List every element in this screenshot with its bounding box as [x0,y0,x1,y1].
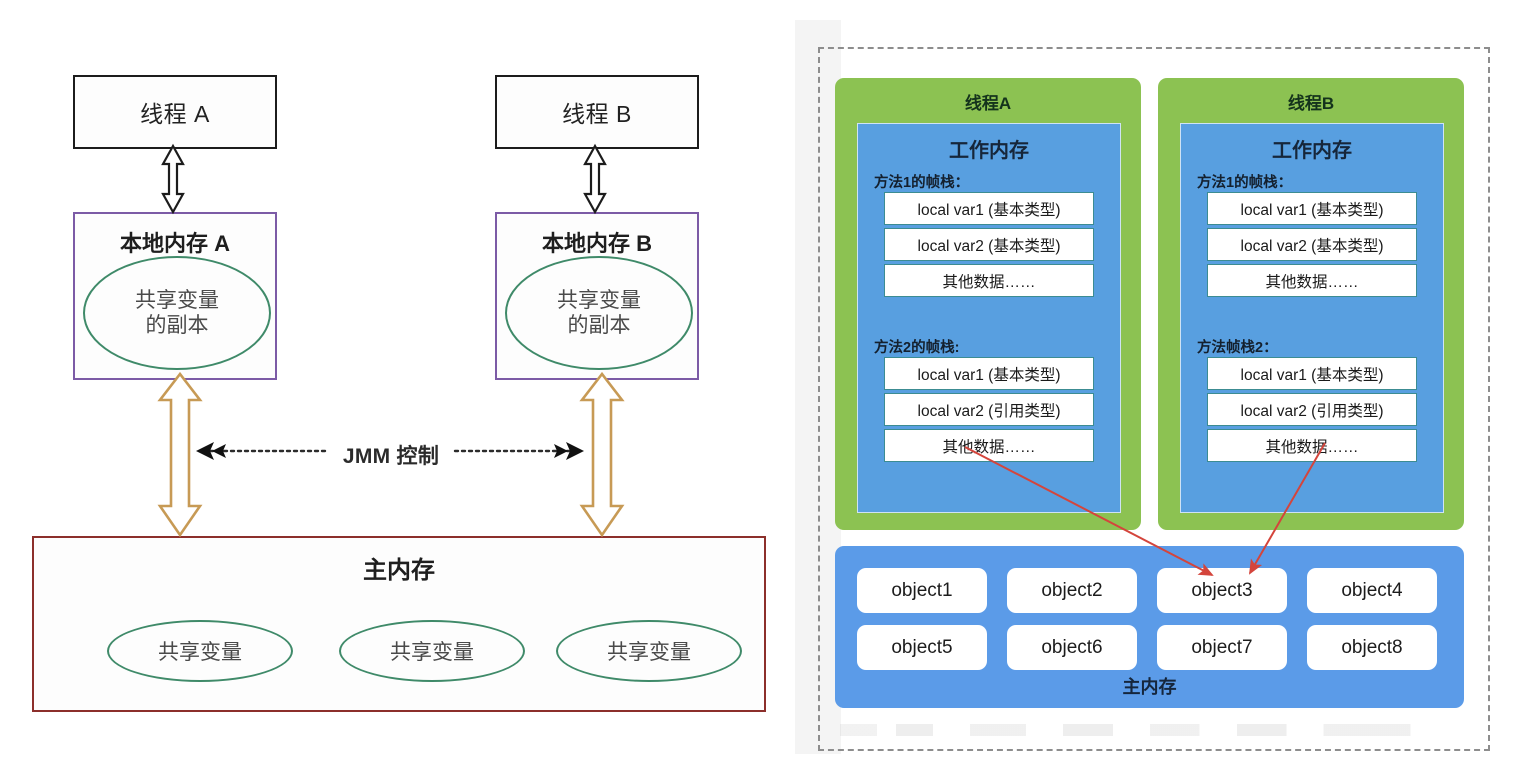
copy-line-1: 共享变量 [135,288,219,313]
local-memory-a-box: 本地内存 A 共享变量 的副本 [73,212,277,380]
local-a-main-memory-arrow [160,374,200,535]
object-item: object1 [857,568,987,613]
local-memory-b-title: 本地内存 B [497,226,697,258]
frame-2-stack: local var1 (基本类型) local var2 (引用类型) 其他数据… [1207,357,1417,465]
local-memory-b-box: 本地内存 B 共享变量 的副本 [495,212,699,380]
local-b-main-memory-arrow [582,374,622,535]
main-memory-box: 主内存 共享变量 共享变量 共享变量 [32,536,766,712]
thread-a-card-title: 线程A [835,89,1141,114]
stack-row: local var2 (引用类型) [884,393,1094,426]
stack-row: local var1 (基本类型) [1207,357,1417,390]
shared-variable-ellipse: 共享变量 [556,620,742,682]
frame-2-label: 方法帧栈2： [1197,336,1278,357]
stack-row: local var2 (基本类型) [1207,228,1417,261]
thread-a-box: 线程 A [73,75,277,149]
stack-row: 其他数据…… [1207,264,1417,297]
frame-1-stack: local var1 (基本类型) local var2 (基本类型) 其他数据… [884,192,1094,300]
frame-2-stack: local var1 (基本类型) local var2 (引用类型) 其他数据… [884,357,1094,465]
shared-variable-copy-b-ellipse: 共享变量 的副本 [505,256,693,370]
stack-row: local var2 (基本类型) [884,228,1094,261]
frame-1-label: 方法1的帧栈： [1197,171,1292,192]
object-item: object5 [857,625,987,670]
work-memory-title: 工作内存 [1181,134,1443,163]
thread-b-card: 线程B 工作内存 方法1的帧栈： local var1 (基本类型) local… [1158,78,1464,530]
thread-b-sync-arrow [585,146,605,212]
object-item: object4 [1307,568,1437,613]
thread-a-card: 线程A 工作内存 方法1的帧栈： local var1 (基本类型) local… [835,78,1141,530]
jmm-control-label: JMM 控制 [331,440,451,470]
shared-variable-copy-a-ellipse: 共享变量 的副本 [83,256,271,370]
jvm-memory-diagram: 线程A 工作内存 方法1的帧栈： local var1 (基本类型) local… [780,0,1534,774]
work-memory-title: 工作内存 [858,134,1120,163]
local-memory-a-title: 本地内存 A [75,226,275,258]
shared-variable-label: 共享变量 [607,636,691,666]
jmm-control-right-arrow [455,442,584,460]
heap-main-memory-card: object1 object2 object3 object4 object5 … [835,546,1464,708]
shared-variable-label: 共享变量 [390,636,474,666]
shared-variable-label: 共享变量 [158,636,242,666]
stack-row: 其他数据…… [1207,429,1417,462]
diagram-root: 线程 A 线程 B 本地内存 A 共享变量 的副本 本地内存 B 共享变量 的副… [0,0,1534,774]
thread-a-sync-arrow [163,146,183,212]
stack-row: 其他数据…… [884,429,1094,462]
thread-b-card-title: 线程B [1158,89,1464,114]
thread-a-work-memory: 工作内存 方法1的帧栈： local var1 (基本类型) local var… [857,123,1121,513]
thread-b-label: 线程 B [562,95,632,129]
cutoff-caption-text [840,724,1460,736]
main-memory-title: 主内存 [34,550,764,585]
thread-b-box: 线程 B [495,75,699,149]
frame-1-stack: local var1 (基本类型) local var2 (基本类型) 其他数据… [1207,192,1417,300]
thread-a-label: 线程 A [140,95,210,129]
heap-main-memory-label: 主内存 [835,673,1464,699]
jmm-abstract-diagram: 线程 A 线程 B 本地内存 A 共享变量 的副本 本地内存 B 共享变量 的副… [0,0,780,774]
frame-1-label: 方法1的帧栈： [874,171,969,192]
shared-variable-ellipse: 共享变量 [107,620,293,682]
copy-line-2: 的副本 [146,313,209,338]
frame-2-label: 方法2的帧栈: [874,336,959,357]
stack-row: local var1 (基本类型) [1207,192,1417,225]
shared-variable-ellipse: 共享变量 [339,620,525,682]
stack-row: 其他数据…… [884,264,1094,297]
stack-row: local var1 (基本类型) [884,192,1094,225]
object-item: object6 [1007,625,1137,670]
object-item: object2 [1007,568,1137,613]
stack-row: local var1 (基本类型) [884,357,1094,390]
object-item: object3 [1157,568,1287,613]
stack-row: local var2 (引用类型) [1207,393,1417,426]
jmm-control-left-arrow [196,442,325,460]
copy-line-1: 共享变量 [557,288,641,313]
copy-line-2: 的副本 [568,313,631,338]
thread-b-work-memory: 工作内存 方法1的帧栈： local var1 (基本类型) local var… [1180,123,1444,513]
object-item: object8 [1307,625,1437,670]
object-item: object7 [1157,625,1287,670]
